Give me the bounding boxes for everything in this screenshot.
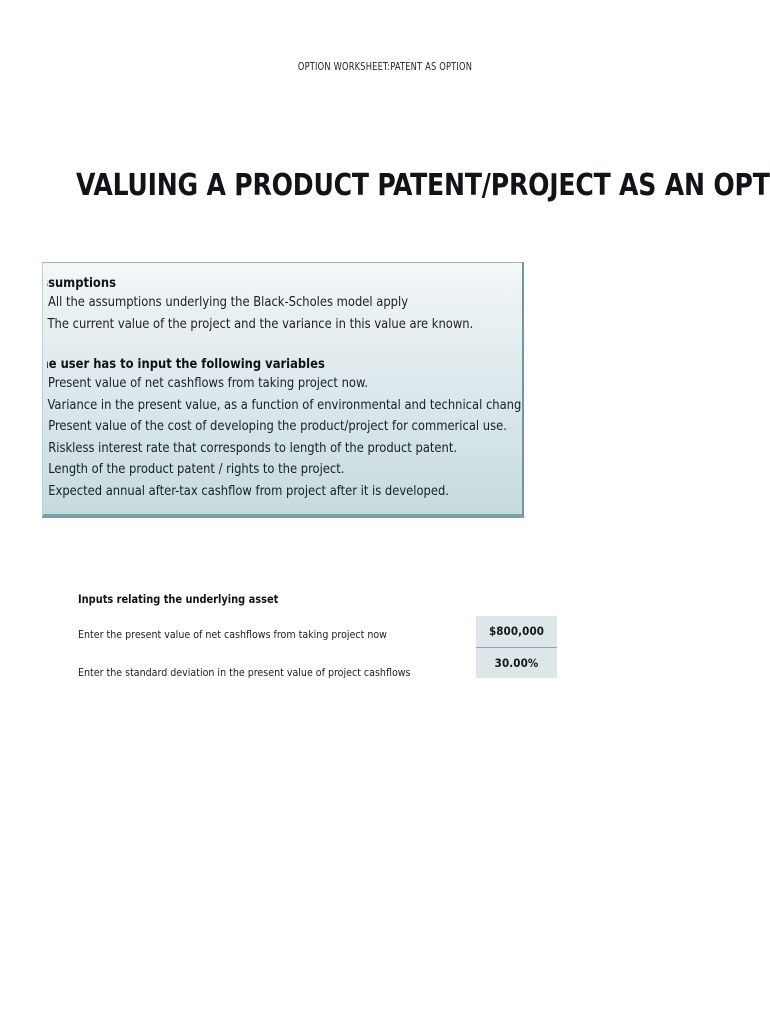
assumption-item: '. The current value of the project and … <box>47 314 512 336</box>
inputs-section-heading: Inputs relating the underlying asset <box>78 592 648 606</box>
variable-item: ¦. Present value of the cost of developi… <box>47 416 512 438</box>
variable-item-text: Riskless interest rate that corresponds … <box>48 440 457 456</box>
variable-item: ¦. Expected annual after-tax cashflow fr… <box>47 481 512 503</box>
variable-item-text: Present value of the cost of developing … <box>48 418 507 434</box>
assumptions-panel-clip: \ssumptions .. All the assumptions under… <box>47 263 522 514</box>
inputs-section: Inputs relating the underlying asset Ent… <box>78 592 678 688</box>
running-header: OPTION WORKSHEET:PATENT AS OPTION <box>46 61 724 73</box>
page-title: VALUING A PRODUCT PATENT/PROJECT AS AN O… <box>76 168 671 203</box>
variable-item-text: Expected annual after-tax cashflow from … <box>48 483 449 499</box>
user-inputs-heading: 'he user has to input the following vari… <box>47 355 512 373</box>
input-row: Enter the standard deviation in the pres… <box>78 658 678 688</box>
input-value-standard-deviation[interactable]: 30.00% <box>476 647 557 678</box>
variable-item: ¦. Riskless interest rate that correspon… <box>47 438 512 460</box>
inputs-row-spacer <box>78 650 678 658</box>
input-value-present-value[interactable]: $800,000 <box>476 616 557 647</box>
assumptions-panel-content: \ssumptions .. All the assumptions under… <box>47 274 522 502</box>
assumptions-panel: \ssumptions .. All the assumptions under… <box>42 262 524 518</box>
variable-item: ¦. Length of the product patent / rights… <box>47 459 512 481</box>
input-value-stack: $800,000 30.00% <box>476 616 557 678</box>
variable-item: '. Variance in the present value, as a f… <box>47 395 512 417</box>
variable-item-text: Present value of net cashflows from taki… <box>48 375 368 391</box>
variable-item-text: Variance in the present value, as a func… <box>48 397 522 413</box>
variable-item: .. Present value of net cashflows from t… <box>47 373 512 395</box>
variable-item-text: Length of the product patent / rights to… <box>48 461 344 477</box>
assumptions-heading: \ssumptions <box>47 274 512 292</box>
input-label-standard-deviation: Enter the standard deviation in the pres… <box>78 658 410 688</box>
assumption-item-text: The current value of the project and the… <box>48 316 474 332</box>
assumption-item: .. All the assumptions underlying the Bl… <box>47 292 512 314</box>
inputs-spacer <box>78 606 678 620</box>
input-row: Enter the present value of net cashflows… <box>78 620 678 650</box>
input-label-present-value: Enter the present value of net cashflows… <box>78 620 387 650</box>
worksheet-page: OPTION WORKSHEET:PATENT AS OPTION VALUIN… <box>0 0 770 1024</box>
panel-spacer <box>47 335 522 355</box>
assumption-item-text: All the assumptions underlying the Black… <box>48 294 408 310</box>
